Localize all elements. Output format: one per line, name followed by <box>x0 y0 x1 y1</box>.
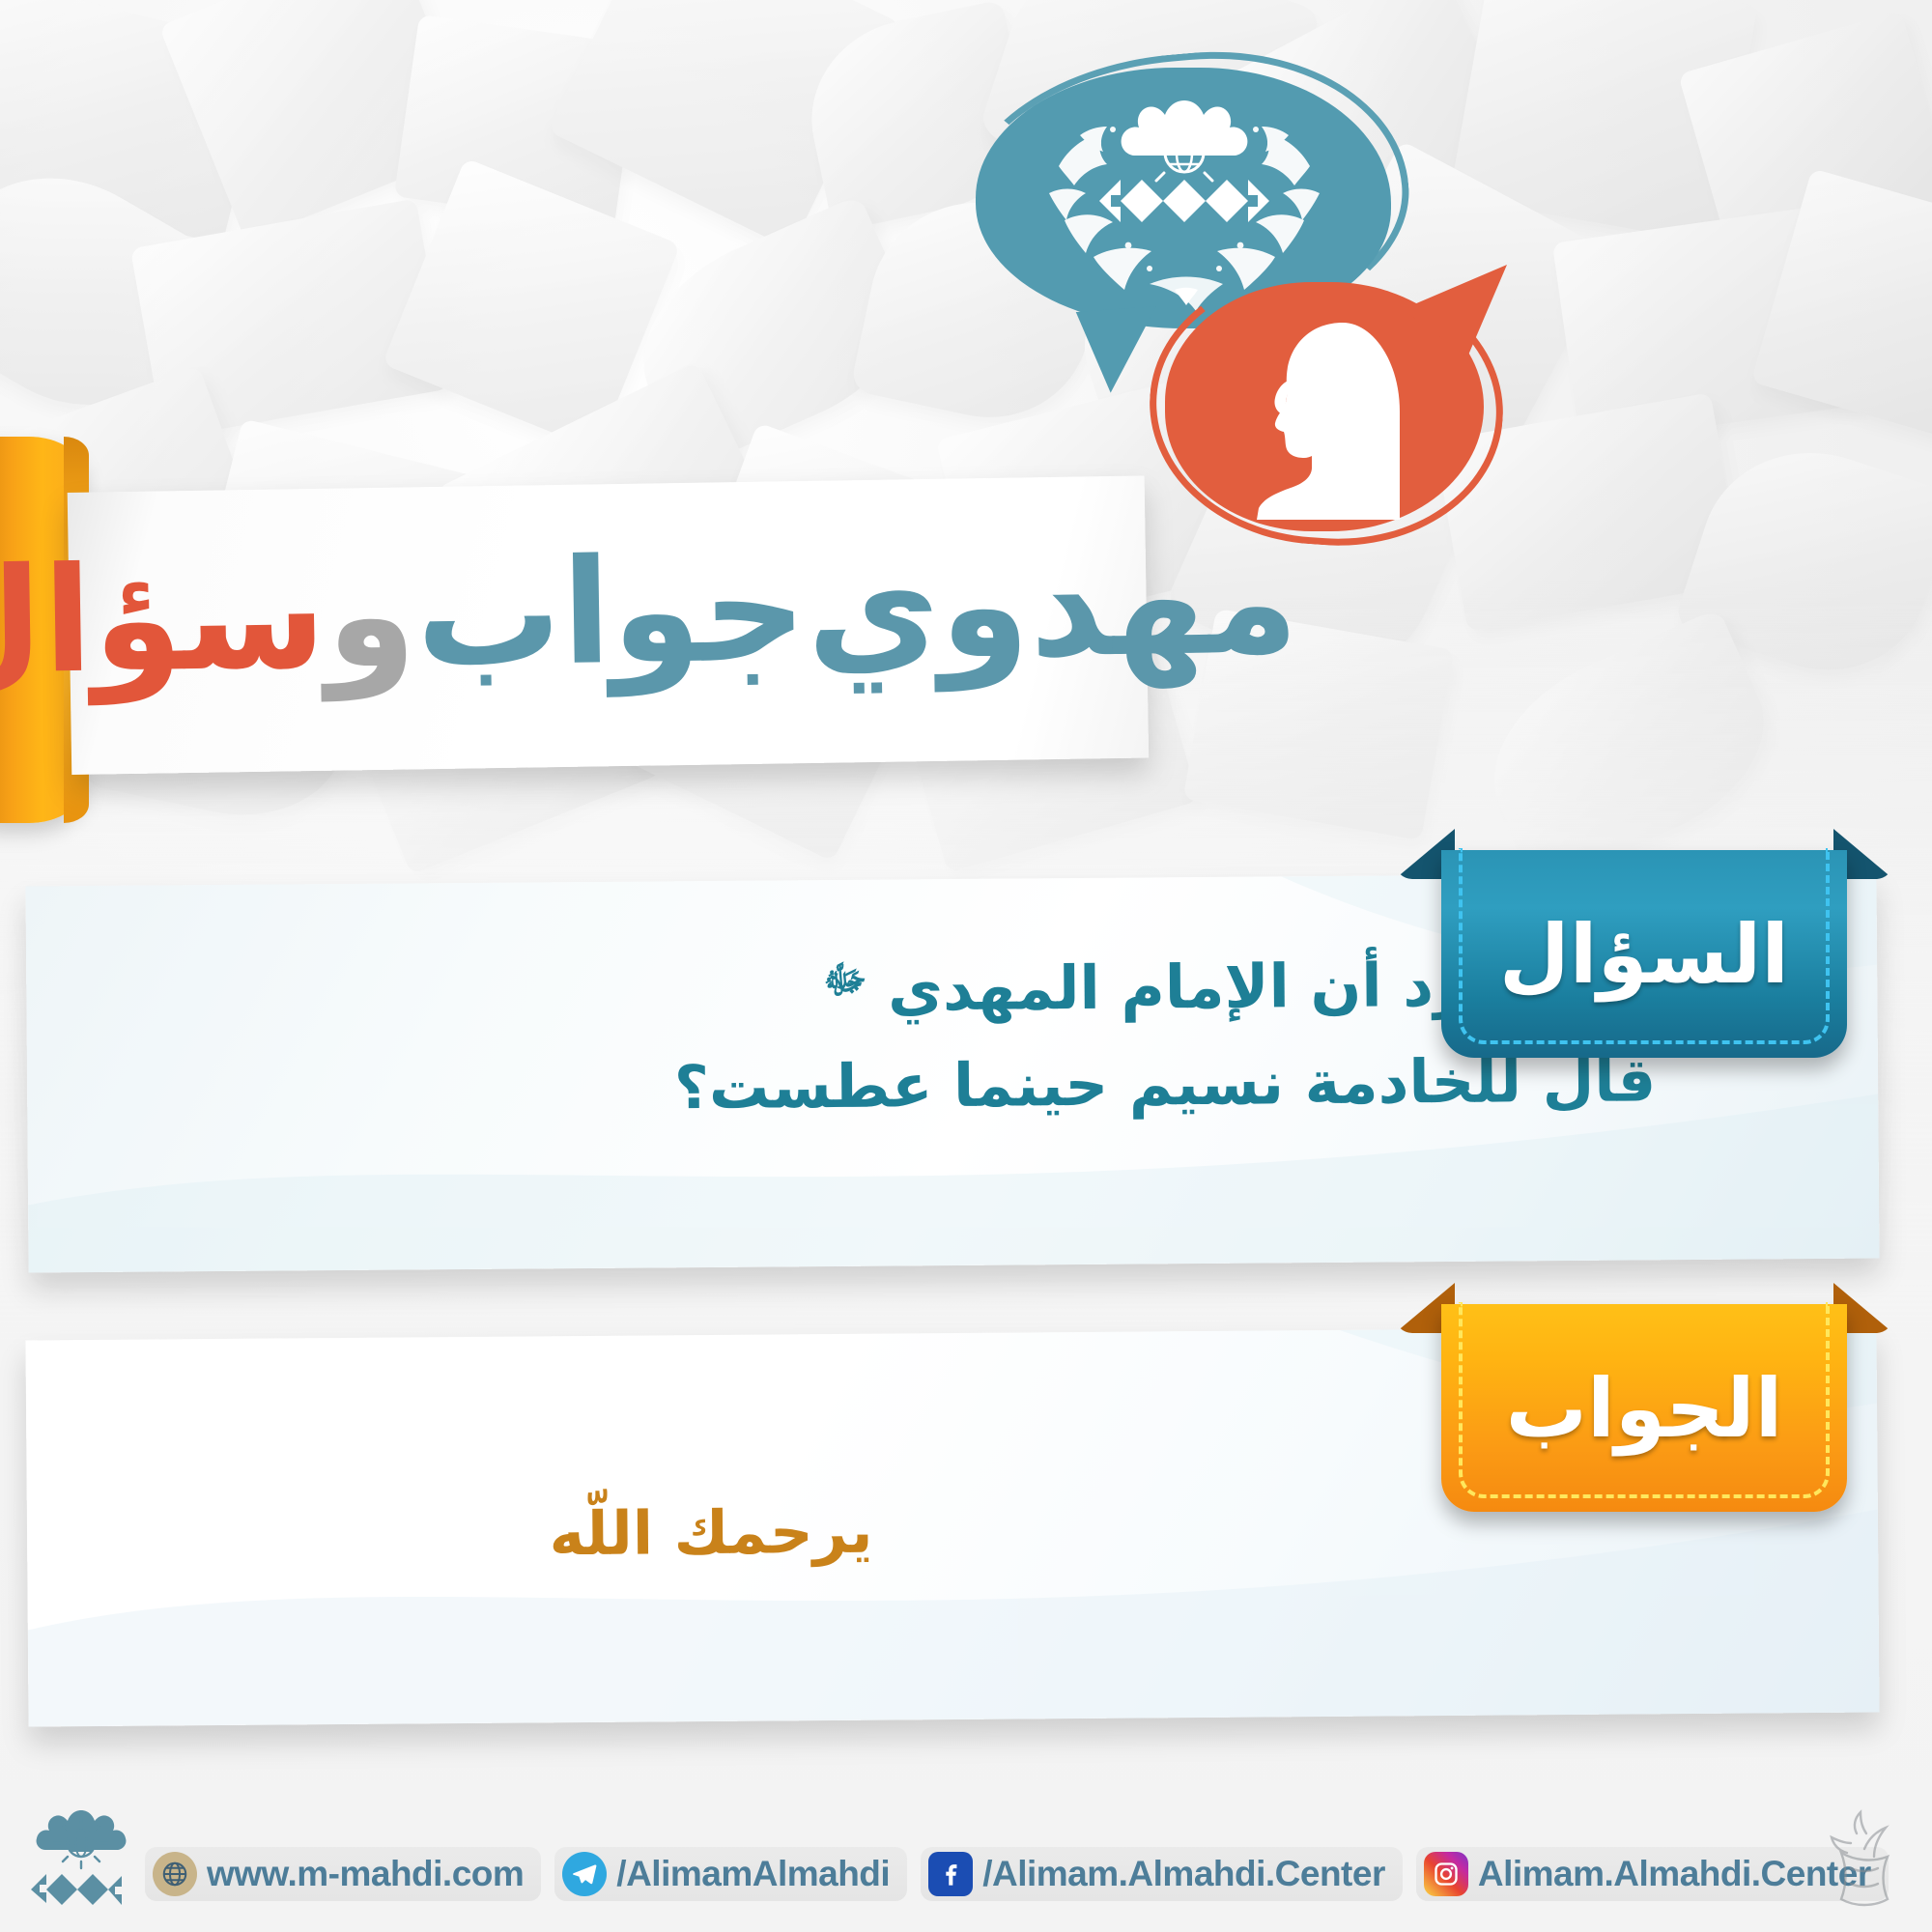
tab-question[interactable]: السؤال <box>1441 850 1847 1058</box>
page-title: مهدوي جواب و سؤال <box>68 476 1149 775</box>
tab-answer[interactable]: الجواب <box>1441 1304 1847 1512</box>
honorific-calligraphy: ﷻ <box>823 949 867 1011</box>
person-head-profile-icon <box>1250 319 1422 520</box>
link-instagram-label: Alimam.Almahdi.Center <box>1478 1854 1871 1894</box>
link-facebook-label: /Alimam.Almahdi.Center <box>982 1854 1385 1894</box>
question-line-1-text: ورد أن الإمام المهدي <box>888 950 1506 1025</box>
link-facebook[interactable]: /Alimam.Almahdi.Center <box>921 1847 1403 1901</box>
title-part-sual: سؤال <box>0 533 327 708</box>
title-part-waw: و <box>325 531 417 700</box>
link-telegram-label: /AlimamAlmahdi <box>616 1854 890 1894</box>
social-links: www.m-mahdi.com /AlimamAlmahdi /Alimam.A… <box>145 1847 1889 1901</box>
title-part-jawab: جواب <box>414 526 808 699</box>
instagram-icon <box>1424 1852 1468 1896</box>
tab-question-label: السؤال <box>1441 850 1847 1058</box>
poster-canvas: مهدوي جواب و سؤال ورد أن الإمام المهدي ﷻ… <box>0 0 1932 1932</box>
globe-icon <box>153 1852 197 1896</box>
arabic-calligraphy-mark-icon <box>1818 1808 1911 1915</box>
teal-bubble-tail <box>1073 306 1162 395</box>
title-plate: مهدوي جواب و سؤال <box>68 476 1149 775</box>
title-part-mahdawi: مهدوي <box>806 518 1300 694</box>
footer-bar: www.m-mahdi.com /AlimamAlmahdi /Alimam.A… <box>0 1789 1932 1932</box>
facebook-icon <box>928 1852 973 1896</box>
center-emblem-logo-icon <box>17 1804 145 1918</box>
link-telegram[interactable]: /AlimamAlmahdi <box>554 1847 907 1901</box>
link-website-label: www.m-mahdi.com <box>207 1854 524 1894</box>
tab-answer-label: الجواب <box>1441 1304 1847 1512</box>
orange-speech-bubble <box>1165 282 1484 531</box>
telegram-icon <box>562 1852 607 1896</box>
link-website[interactable]: www.m-mahdi.com <box>145 1847 541 1901</box>
